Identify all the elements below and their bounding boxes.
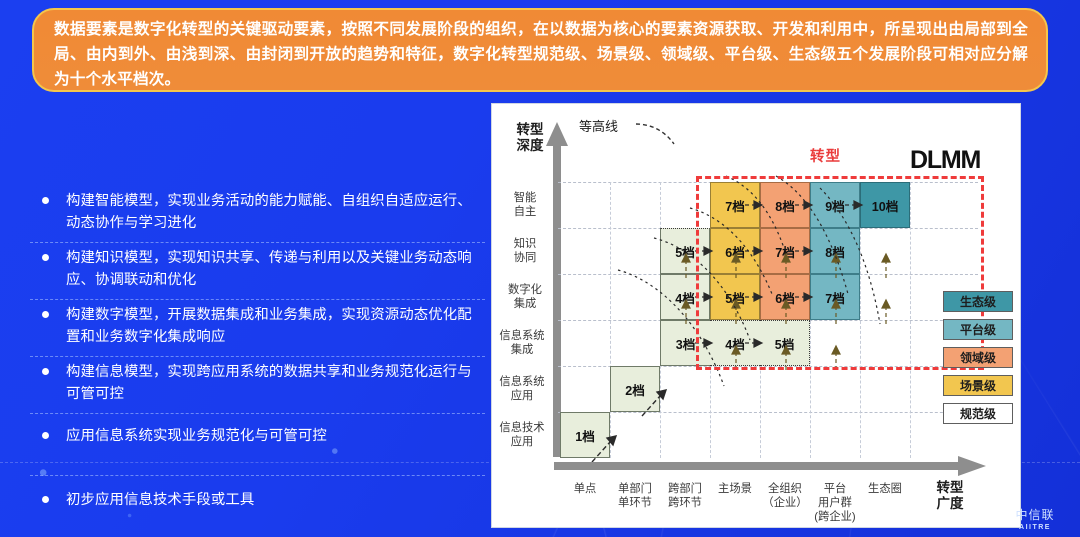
list-item: 构建信息模型，实现跨应用系统的数据共享和业务规范化运行与可管可控 bbox=[30, 357, 485, 414]
dlmm-logo: DLMM bbox=[910, 146, 980, 175]
legend-item-label: 规范级 bbox=[960, 405, 996, 422]
y-tick-label: 智能 自主 bbox=[492, 191, 558, 219]
gridline bbox=[558, 412, 978, 413]
legend-item[interactable]: 生态级 bbox=[943, 291, 1013, 312]
banner-text: 数据要素是数字化转型的关键驱动要素，按照不同发展阶段的组织，在以数据为核心的要素… bbox=[54, 17, 1028, 92]
bullet-dot-icon bbox=[42, 368, 49, 375]
x-axis-title: 转型 广度 bbox=[922, 480, 978, 512]
header-banner: 数据要素是数字化转型的关键驱动要素，按照不同发展阶段的组织，在以数据为核心的要素… bbox=[32, 8, 1048, 92]
matrix-cell: 7档 bbox=[810, 274, 860, 320]
legend-item[interactable]: 规范级 bbox=[943, 403, 1013, 424]
x-axis-arrow-icon bbox=[554, 456, 986, 478]
legend-item-label: 领域级 bbox=[960, 349, 996, 366]
contour-squiggle-icon bbox=[634, 118, 694, 152]
watermark-line1: 中信联 bbox=[996, 506, 1074, 523]
legend-item[interactable]: 场景级 bbox=[943, 375, 1013, 396]
bullet-dot-icon bbox=[42, 432, 49, 439]
gridline bbox=[910, 182, 911, 458]
y-tick-label: 信息系统 应用 bbox=[489, 375, 555, 403]
bullet-dot-icon bbox=[42, 496, 49, 503]
matrix-cell: 9档 bbox=[810, 182, 860, 228]
y-tick-label: 信息系统 集成 bbox=[489, 329, 555, 357]
legend-item[interactable]: 领域级 bbox=[943, 347, 1013, 368]
gridline bbox=[610, 182, 611, 458]
list-item-label: 构建信息模型，实现跨应用系统的数据共享和业务规范化运行与可管可控 bbox=[66, 361, 485, 405]
matrix-cell: 5档 bbox=[660, 228, 710, 274]
matrix-cell: 5档 bbox=[710, 274, 760, 320]
matrix-cell: 7档 bbox=[760, 228, 810, 274]
matrix-cell: 10档 bbox=[860, 182, 910, 228]
maturity-matrix: DLMM 等高线 转型 转型 深度 智能 自主 知识 协同 数字化 集成 信息系… bbox=[492, 104, 1022, 529]
bullet-dot-icon bbox=[42, 311, 49, 318]
matrix-cell: 1档 bbox=[560, 412, 610, 458]
legend-item-label: 平台级 bbox=[960, 321, 996, 338]
list-item-label: 构建数字模型，开展数据集成和业务集成，实现资源动态优化配置和业务数字化集成响应 bbox=[66, 304, 485, 348]
contour-label: 等高线 bbox=[579, 116, 618, 135]
matrix-cell: 6档 bbox=[760, 274, 810, 320]
matrix-cell: 4档 bbox=[660, 274, 710, 320]
matrix-cell: 8档 bbox=[810, 228, 860, 274]
list-item-label: 构建智能模型，实现业务活动的能力赋能、自组织自适应运行、动态协作与学习进化 bbox=[66, 190, 485, 234]
legend-item-label: 生态级 bbox=[960, 293, 996, 310]
list-item: 构建数字模型，开展数据集成和业务集成，实现资源动态优化配置和业务数字化集成响应 bbox=[30, 300, 485, 357]
y-tick-label: 数字化 集成 bbox=[492, 283, 558, 311]
matrix-cell: 4档 bbox=[710, 320, 760, 366]
y-tick-label: 信息技术 应用 bbox=[489, 421, 555, 449]
list-item: 构建知识模型，实现知识共享、传递与利用以及关键业务动态响应、协调联动和优化 bbox=[30, 243, 485, 300]
bullet-dot-icon bbox=[42, 197, 49, 204]
legend-item[interactable]: 平台级 bbox=[943, 319, 1013, 340]
legend: 生态级 平台级 领域级 场景级 规范级 bbox=[943, 291, 1013, 431]
watermark: 中信联 AIITRE bbox=[996, 506, 1074, 531]
matrix-cell: 2档 bbox=[610, 366, 660, 412]
bullet-list: 构建智能模型，实现业务活动的能力赋能、自组织自适应运行、动态协作与学习进化 构建… bbox=[30, 186, 485, 535]
maturity-chart-panel: DLMM 等高线 转型 转型 深度 智能 自主 知识 协同 数字化 集成 信息系… bbox=[491, 103, 1021, 528]
list-item: 构建智能模型，实现业务活动的能力赋能、自组织自适应运行、动态协作与学习进化 bbox=[30, 186, 485, 243]
matrix-cell: 8档 bbox=[760, 182, 810, 228]
transform-label: 转型 bbox=[810, 145, 841, 166]
list-item-label: 应用信息系统实现业务规范化与可管可控 bbox=[66, 425, 485, 447]
matrix-cell: 5档 bbox=[760, 320, 810, 366]
legend-item-label: 场景级 bbox=[960, 377, 996, 394]
list-item-label: 初步应用信息技术手段或工具 bbox=[66, 489, 485, 511]
bullet-dot-icon bbox=[42, 254, 49, 261]
matrix-cell: 3档 bbox=[660, 320, 710, 366]
list-item-label: 构建知识模型，实现知识共享、传递与利用以及关键业务动态响应、协调联动和优化 bbox=[66, 247, 485, 291]
y-tick-label: 知识 协同 bbox=[492, 237, 558, 265]
matrix-cell: 6档 bbox=[710, 228, 760, 274]
matrix-cell: 7档 bbox=[710, 182, 760, 228]
watermark-line2: AIITRE bbox=[996, 524, 1074, 531]
list-item: 应用信息系统实现业务规范化与可管可控 bbox=[30, 414, 485, 476]
list-item: 初步应用信息技术手段或工具 bbox=[30, 476, 485, 535]
x-tick-label: 生态圈 bbox=[856, 482, 914, 496]
